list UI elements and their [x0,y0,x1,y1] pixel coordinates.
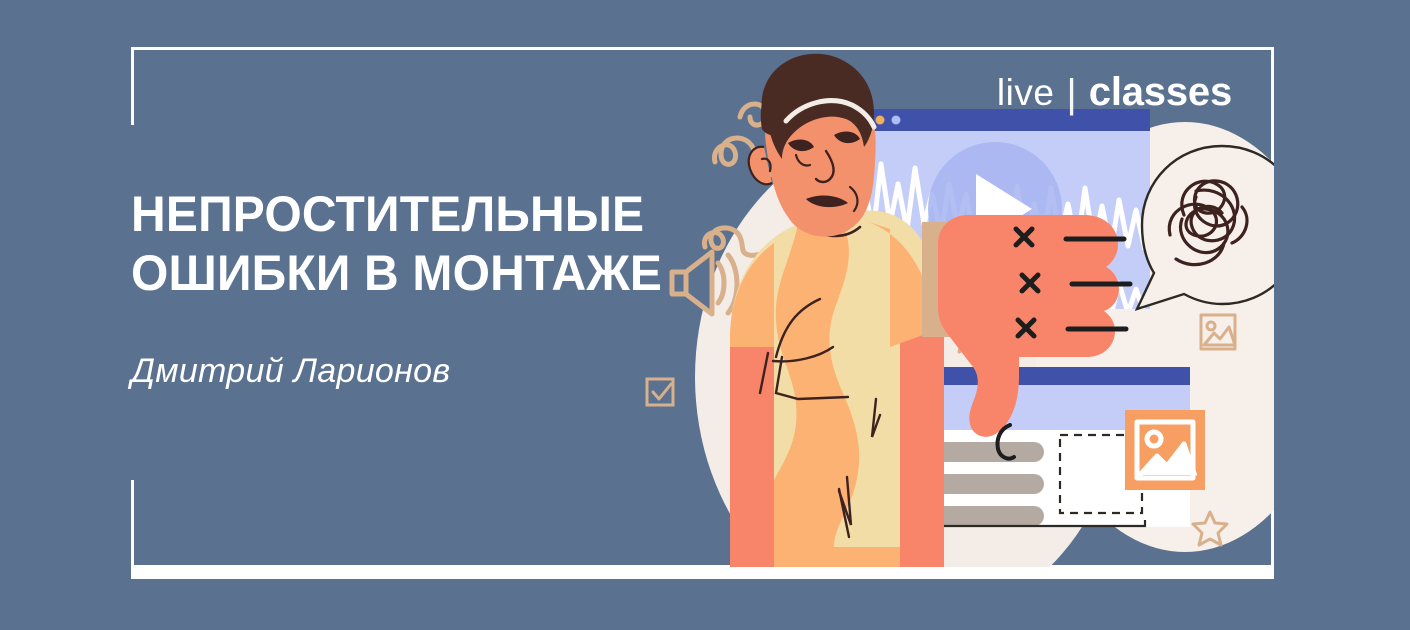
illustration [610,47,1274,567]
logo-live-word: live [997,74,1055,111]
window-dot-maximize [892,116,901,125]
slide-canvas: live | classes НЕПРОСТИТЕЛЬНЫЕ ОШИБКИ В … [0,0,1410,630]
brand-logo: live | classes [997,72,1232,112]
right-arm [900,315,944,567]
frame-top-left-bracket [131,47,134,125]
logo-separator: | [1066,74,1076,114]
left-arm [730,347,774,567]
window-dot-minimize [876,116,885,125]
checkbox-checked-icon [647,379,673,405]
image-placeholder-icon [1125,410,1205,490]
speaker-name: Дмитрий Ларионов [131,352,450,391]
frame-bottom-bar [131,565,1274,579]
page-title: НЕПРОСТИТЕЛЬНЫЕ ОШИБКИ В МОНТАЖЕ [131,185,707,303]
logo-classes-word: classes [1089,72,1232,112]
frame-bottom-left-bracket [131,480,134,568]
